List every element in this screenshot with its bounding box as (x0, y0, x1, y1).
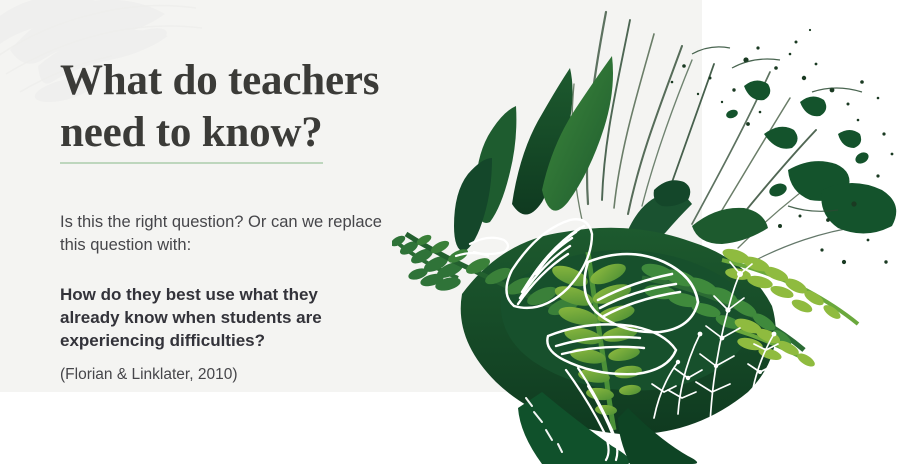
lede-paragraph: Is this the right question? Or can we re… (60, 211, 390, 257)
splatter-streaks (692, 47, 862, 211)
frond-upper-right-lime (721, 246, 858, 324)
headline-line-1: What do teachers (60, 57, 379, 104)
ink-splatter-blobs (725, 80, 896, 233)
slide-canvas: What do teachers need to know? Is this t… (0, 0, 900, 465)
text-column: What do teachers need to know? Is this t… (60, 55, 460, 385)
frond-lower-right-lime (733, 316, 817, 370)
headline-line-2: need to know? (60, 107, 323, 164)
emphasis-question: How do they best use what they already k… (60, 283, 380, 352)
ink-speckles (671, 29, 894, 264)
citation-reference: (Florian & Linklater, 2010) (60, 365, 460, 385)
page-title: What do teachers need to know? (60, 55, 460, 164)
